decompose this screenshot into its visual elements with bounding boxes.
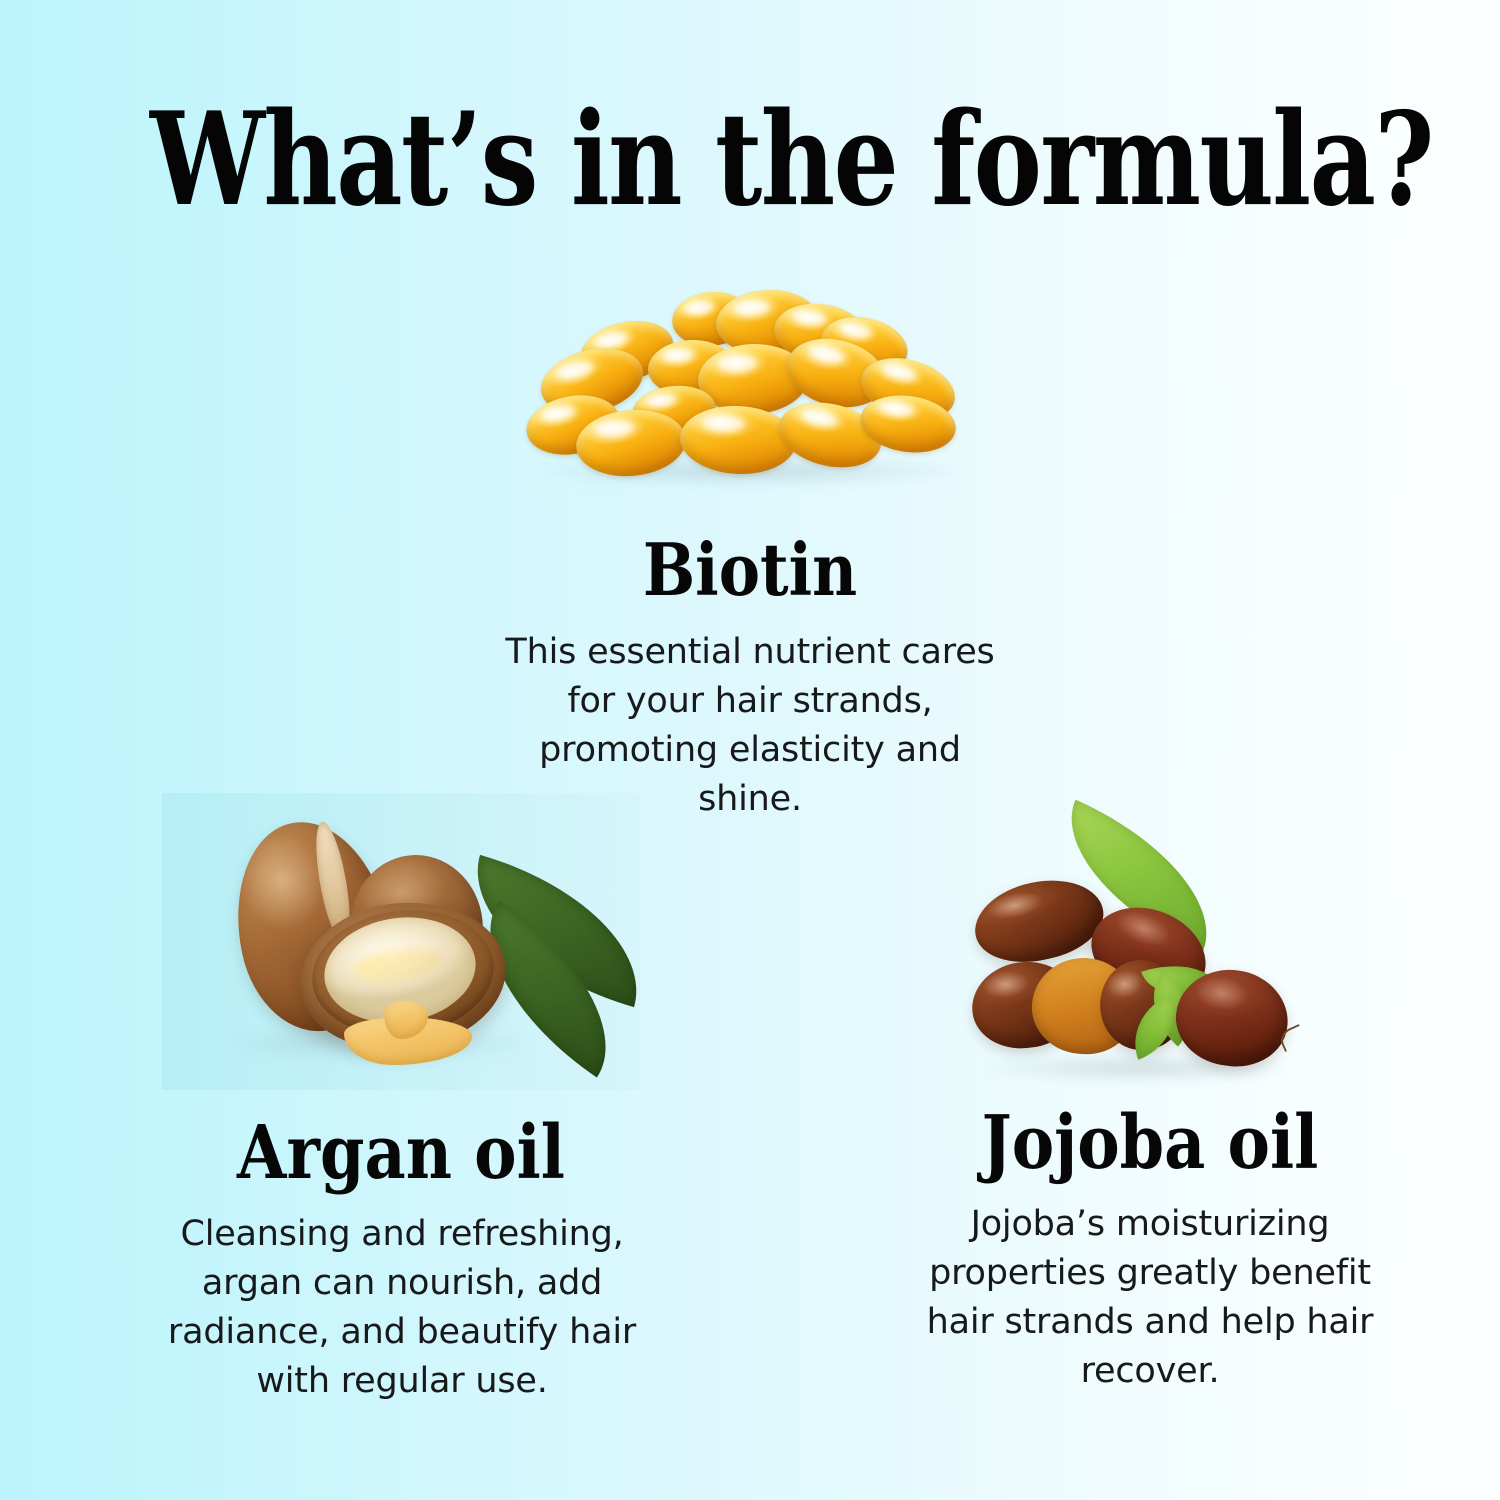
ingredient-card-argan-oil: Argan oil Cleansing and refreshing, arga… (162, 793, 640, 1406)
ingredient-description-jojoba-oil: Jojoba’s moisturizing properties greatly… (915, 1200, 1385, 1396)
ingredient-card-jojoba-oil: Jojoba oil Jojoba’s moisturizing propert… (880, 800, 1420, 1396)
formula-ingredients-poster: What’s in the formula? (0, 0, 1500, 1500)
argan-nuts-image (162, 793, 640, 1090)
ingredient-name-argan-oil: Argan oil (195, 1116, 606, 1190)
ingredient-name-jojoba-oil: Jojoba oil (918, 1106, 1382, 1180)
jojoba-seeds-image (950, 810, 1350, 1090)
biotin-capsules-image (520, 288, 980, 498)
page-title: What’s in the formula? (150, 96, 1350, 224)
jojoba-seed (967, 869, 1110, 972)
ingredient-description-argan-oil: Cleansing and refreshing, argan can nour… (162, 1210, 642, 1406)
ingredient-name-biotin: Biotin (105, 534, 1395, 606)
ingredient-card-biotin: Biotin This essential nutrient cares for… (0, 288, 1500, 824)
